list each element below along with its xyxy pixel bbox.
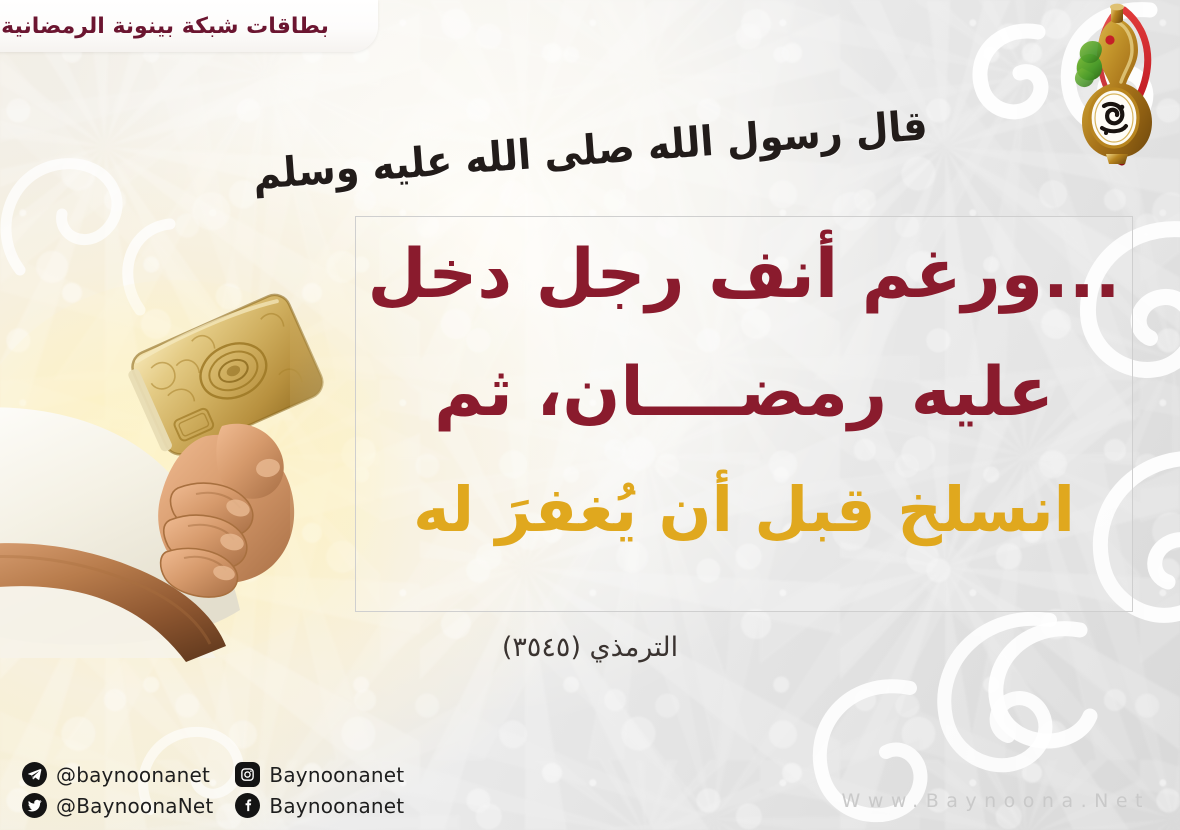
- hadith-line-2: عليه رمضــــان، ثم: [356, 359, 1132, 427]
- twitter-icon: [22, 793, 47, 818]
- social-link-twitter[interactable]: @BaynoonaNet: [22, 793, 213, 818]
- social-link-facebook[interactable]: Baynoonanet: [235, 793, 404, 818]
- telegram-handle: @baynoonanet: [56, 763, 210, 787]
- social-link-instagram[interactable]: Baynoonanet: [235, 762, 404, 787]
- hadith-intro: قال رسول الله صلى الله عليه وسلم: [0, 128, 1180, 172]
- hadith-source-text: الترمذي (٣٥٤٥): [502, 632, 678, 663]
- website-url[interactable]: Www.Baynoona.Net: [842, 790, 1150, 812]
- facebook-icon: [235, 793, 260, 818]
- hadith-line-1: ...ورغم أنف رجل دخل: [356, 241, 1132, 309]
- header-banner-text: بطاقات شبكة بينونة الرمضانية: [1, 14, 329, 39]
- site-logo[interactable]: [1068, 2, 1166, 166]
- twitter-handle: @BaynoonaNet: [56, 794, 213, 818]
- social-link-telegram[interactable]: @baynoonanet: [22, 762, 213, 787]
- hadith-line-3: انسلخ قبل أن يُغفرَ له: [356, 479, 1132, 541]
- hadith-quote-box: ...ورغم أنف رجل دخل عليه رمضــــان، ثم ا…: [355, 216, 1133, 612]
- header-banner: بطاقات شبكة بينونة الرمضانية: [0, 0, 378, 52]
- hadith-source: الترمذي (٣٥٤٥): [0, 632, 1180, 663]
- baynoona-lamp-logo-icon: [1068, 2, 1166, 166]
- facebook-handle: Baynoonanet: [269, 794, 404, 818]
- instagram-handle: Baynoonanet: [269, 763, 404, 787]
- instagram-icon: [235, 762, 260, 787]
- ramadan-hadith-card: بطاقات شبكة بينونة الرمضانية: [0, 0, 1180, 830]
- telegram-icon: [22, 762, 47, 787]
- social-links: @baynoonanet Baynoonanet @BaynoonaNet: [22, 762, 404, 818]
